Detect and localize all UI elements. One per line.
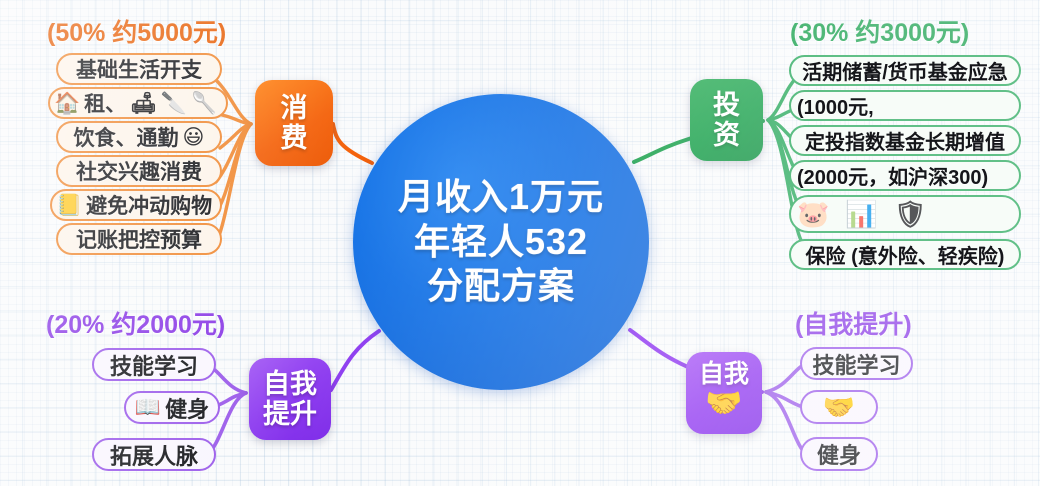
branch-self-line-1: 自我 [263, 369, 317, 399]
list-item-consume-3[interactable]: 饮食、通勤 😃 [56, 121, 222, 153]
list-item-invest-2[interactable]: (1000元, [789, 90, 1021, 121]
list-item-invest-3[interactable]: 定投指数基金长期增值 [789, 125, 1021, 156]
house-icon: 🏠 [54, 93, 80, 114]
invest-item-4-label: (2000元，如沪深300) [797, 161, 988, 190]
link-center-self [331, 331, 379, 390]
self-item-1-label: 技能学习 [110, 349, 198, 381]
invest-item-3-label: 定投指数基金长期增值 [805, 126, 1005, 155]
smiley-icon: 😃 [183, 127, 205, 148]
list-item-social-3[interactable]: 健身 [800, 437, 878, 471]
list-item-self-2[interactable]: 📖 健身 [124, 391, 220, 424]
list-item-consume-1[interactable]: 基础生活开支 [56, 53, 222, 85]
social-item-3-label: 健身 [817, 438, 861, 470]
piggy-bank-icon: 🐷 [797, 201, 829, 227]
list-item-consume-5[interactable]: 📒 避免冲动购物 [50, 189, 222, 221]
handshake-icon: 🤝 [823, 394, 855, 420]
spoon-icon: 🥄 [191, 93, 217, 114]
center-node[interactable]: 月收入1万元 年轻人532 分配方案 [353, 94, 649, 390]
branch-social-label: 自我 [699, 360, 749, 388]
handshake-icon: 🤝 [705, 389, 742, 419]
branch-consume-char-2: 费 [281, 123, 308, 153]
list-item-invest-1[interactable]: 活期储蓄/货币基金应急 [789, 55, 1021, 86]
invest-item-1-label: 活期储蓄/货币基金应急 [802, 56, 1008, 85]
consume-item-3-label: 饮食、通勤 [74, 122, 179, 152]
sofa-icon: 🛋 [130, 93, 157, 114]
center-line-3: 分配方案 [427, 264, 575, 309]
list-item-consume-4[interactable]: 社交兴趣消费 [56, 155, 222, 187]
branch-node-consume[interactable]: 消 费 [255, 80, 333, 166]
invest-item-6-label: 保险 (意外险、轻疾险) [806, 240, 1005, 269]
caption-self: (20% 约2000元) [46, 305, 225, 341]
branch-invest-char-2: 资 [713, 120, 740, 150]
center-line-2: 年轻人532 [414, 220, 588, 265]
mindmap-canvas: 月收入1万元 年轻人532 分配方案 消 费 投 资 自我 提升 自我 🤝 基础… [0, 0, 1040, 486]
notebook-icon: 📒 [56, 195, 82, 216]
self-item-2-label: 健身 [165, 392, 209, 424]
branch-self-line-2: 提升 [263, 399, 317, 429]
list-item-invest-6[interactable]: 保险 (意外险、轻疾险) [789, 239, 1021, 270]
caption-invest: (30% 约3000元) [790, 13, 969, 49]
open-book-icon: 📖 [135, 397, 161, 418]
shield-check-icon: 🛡 [894, 201, 927, 227]
bar-chart-icon: 📊 [845, 201, 877, 227]
list-item-consume-6[interactable]: 记账把控预算 [56, 223, 222, 255]
consume-item-1-label: 基础生活开支 [76, 54, 202, 84]
knife-icon: 🔪 [161, 93, 187, 114]
invest-item-5-icons: 🐷 📊 🛡 [791, 201, 927, 227]
center-line-1: 月收入1万元 [398, 175, 604, 220]
consume-item-6-label: 记账把控预算 [76, 224, 202, 254]
list-item-consume-2[interactable]: 🏠 租、 🛋 🔪 🥄 [48, 87, 228, 119]
branch-node-self-improvement[interactable]: 自我 提升 [249, 358, 331, 440]
list-item-invest-5[interactable]: 🐷 📊 🛡 [789, 195, 1021, 233]
consume-item-4-label: 社交兴趣消费 [76, 156, 202, 186]
list-item-self-3[interactable]: 拓展人脉 [92, 438, 216, 471]
branch-node-invest[interactable]: 投 资 [690, 79, 763, 161]
social-item-1-label: 技能学习 [812, 348, 900, 380]
consume-item-2-label: 租、 [84, 88, 126, 118]
invest-item-2-label: (1000元, [797, 91, 874, 120]
list-item-self-1[interactable]: 技能学习 [92, 348, 216, 381]
branch-node-social[interactable]: 自我 🤝 [686, 352, 762, 434]
branch-invest-char-1: 投 [713, 90, 740, 120]
self-item-3-label: 拓展人脉 [110, 439, 198, 471]
list-item-invest-4[interactable]: (2000元，如沪深300) [789, 160, 1021, 191]
consume-item-5-label: 避免冲动购物 [86, 190, 212, 220]
link-center-consume [333, 124, 372, 163]
branch-consume-char-1: 消 [281, 93, 308, 123]
list-item-social-1[interactable]: 技能学习 [800, 347, 913, 380]
caption-consume: (50% 约5000元) [47, 13, 226, 49]
list-item-social-2[interactable]: 🤝 [800, 390, 878, 424]
caption-social: (自我提升) [795, 305, 912, 341]
